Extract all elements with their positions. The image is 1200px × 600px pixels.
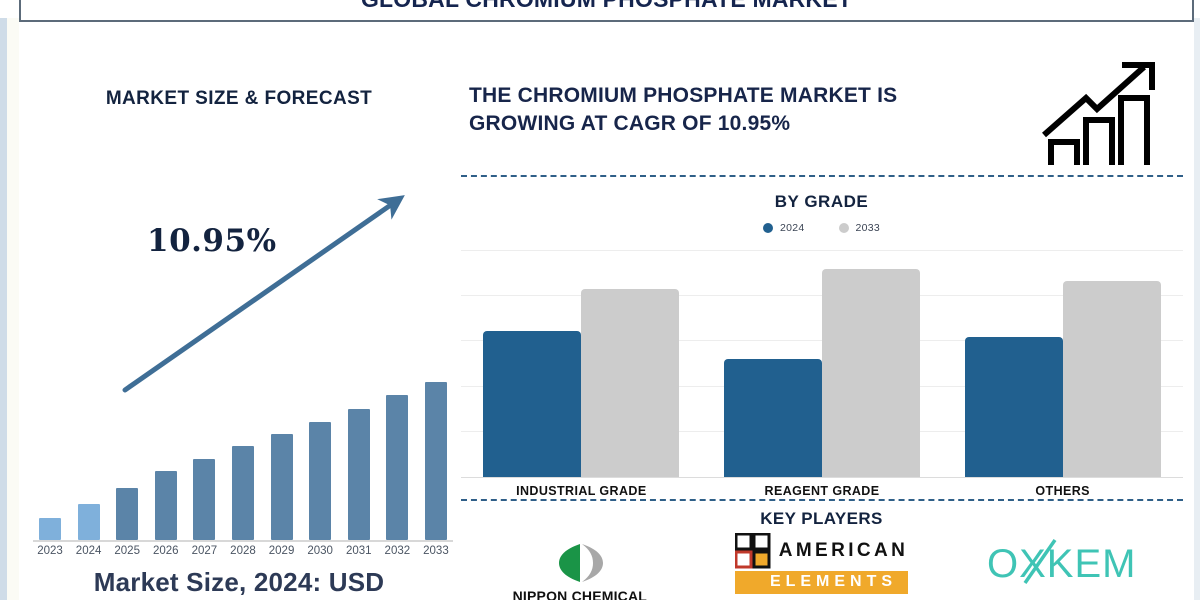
divider-bottom bbox=[461, 499, 1183, 501]
legend-label-2033: 2033 bbox=[856, 222, 881, 234]
x-label-2028: 2028 bbox=[226, 545, 260, 563]
bar-group-others bbox=[942, 250, 1183, 477]
legend-dot-2024 bbox=[763, 223, 773, 233]
x-label-2029: 2029 bbox=[265, 545, 299, 563]
bar-cell bbox=[419, 408, 453, 540]
by-grade-bar-chart bbox=[461, 250, 1183, 478]
bar-2027 bbox=[193, 459, 215, 540]
legend-dot-2033 bbox=[839, 223, 849, 233]
nippon-chemical-logo bbox=[543, 540, 617, 586]
by-grade-legend: 2024 2033 bbox=[459, 222, 1184, 234]
american-elements-word-bottom: ELEMENTS bbox=[770, 573, 897, 590]
bar-cell bbox=[149, 408, 183, 540]
market-size-heading: MARKET SIZE & FORECAST bbox=[19, 88, 459, 110]
bar-cell bbox=[380, 408, 414, 540]
american-elements-grid-icon bbox=[735, 533, 771, 569]
bar-cell bbox=[342, 408, 376, 540]
up-trend-arrow-icon bbox=[19, 140, 459, 430]
oxkem-wordmark-icon: OXKEM bbox=[983, 537, 1143, 589]
x-label-industrial-grade: INDUSTRIAL GRADE bbox=[461, 484, 702, 498]
bar-cell bbox=[33, 408, 67, 540]
x-label-reagent-grade: REAGENT GRADE bbox=[702, 484, 943, 498]
key-player-name-nippon-chemical: NIPPON CHEMICAL bbox=[513, 588, 647, 600]
market-size-bars bbox=[33, 408, 453, 540]
x-label-2031: 2031 bbox=[342, 545, 376, 563]
american-elements-logo: AMERICAN ELEMENTS bbox=[735, 540, 909, 586]
divider-top bbox=[461, 175, 1183, 177]
bar-2028 bbox=[232, 446, 254, 540]
bar-cell bbox=[187, 408, 221, 540]
bar-2025 bbox=[116, 488, 138, 540]
bar-cell bbox=[72, 408, 106, 540]
market-size-axis-line bbox=[33, 540, 453, 542]
bar-reagent-grade-2024 bbox=[724, 359, 822, 477]
market-size-bar-chart bbox=[33, 408, 453, 540]
bar-2031 bbox=[348, 409, 370, 540]
bar-2026 bbox=[155, 471, 177, 540]
bar-2023 bbox=[39, 518, 61, 540]
legend-item-2024: 2024 bbox=[763, 222, 805, 234]
bar-cell bbox=[265, 408, 299, 540]
market-size-value: Market Size, 2024: USD 142.86 Million bbox=[19, 568, 459, 600]
bar-2032 bbox=[386, 395, 408, 540]
by-grade-title: BY GRADE bbox=[459, 192, 1184, 212]
left-edge-inner-strip bbox=[7, 18, 19, 600]
infographic-root: GLOBAL CHROMIUM PHOSPHATE MARKET MARKET … bbox=[0, 0, 1200, 600]
american-elements-word-bar: ELEMENTS bbox=[735, 571, 909, 594]
x-label-2024: 2024 bbox=[72, 545, 106, 563]
x-label-2030: 2030 bbox=[303, 545, 337, 563]
legend-item-2033: 2033 bbox=[839, 222, 881, 234]
by-grade-bar-groups bbox=[461, 250, 1183, 477]
key-players-list: NIPPON CHEMICAL AMERICAN bbox=[459, 540, 1184, 600]
bar-others-2024 bbox=[965, 337, 1063, 477]
bar-cell bbox=[110, 408, 144, 540]
x-label-others: OTHERS bbox=[942, 484, 1183, 498]
x-label-2023: 2023 bbox=[33, 545, 67, 563]
key-players-title: KEY PLAYERS bbox=[459, 509, 1184, 529]
by-grade-x-axis-labels: INDUSTRIAL GRADE REAGENT GRADE OTHERS bbox=[461, 484, 1183, 498]
key-player-nippon-chemical: NIPPON CHEMICAL bbox=[459, 540, 701, 600]
x-label-2027: 2027 bbox=[187, 545, 221, 563]
bar-reagent-grade-2033 bbox=[822, 269, 920, 477]
x-label-2026: 2026 bbox=[149, 545, 183, 563]
bar-cell bbox=[226, 408, 260, 540]
bar-2024 bbox=[78, 504, 100, 540]
page-title: GLOBAL CHROMIUM PHOSPHATE MARKET bbox=[361, 0, 852, 20]
left-edge-strip bbox=[0, 18, 7, 600]
bar-cell bbox=[303, 408, 337, 540]
x-label-2033: 2033 bbox=[419, 545, 453, 563]
american-elements-word-top: AMERICAN bbox=[779, 540, 909, 562]
right-panel: THE CHROMIUM PHOSPHATE MARKET IS GROWING… bbox=[459, 22, 1194, 600]
bar-group-industrial-grade bbox=[461, 250, 702, 477]
oxkem-logo: OXKEM bbox=[983, 540, 1143, 586]
cagr-headline-line2: GROWING AT CAGR OF 10.95% bbox=[469, 110, 1029, 138]
svg-text:OXKEM: OXKEM bbox=[987, 542, 1136, 586]
bar-2029 bbox=[271, 434, 293, 540]
key-player-oxkem: OXKEM bbox=[942, 540, 1184, 586]
cagr-headline-line1: THE CHROMIUM PHOSPHATE MARKET IS bbox=[469, 82, 1029, 110]
by-grade-axis-line bbox=[461, 477, 1183, 478]
page-title-bar: GLOBAL CHROMIUM PHOSPHATE MARKET bbox=[19, 0, 1194, 22]
legend-label-2024: 2024 bbox=[780, 222, 805, 234]
market-size-value-line1: Market Size, 2024: USD bbox=[19, 568, 459, 597]
bar-industrial-grade-2033 bbox=[581, 289, 679, 477]
cagr-headline: THE CHROMIUM PHOSPHATE MARKET IS GROWING… bbox=[469, 82, 1029, 138]
x-label-2032: 2032 bbox=[380, 545, 414, 563]
x-label-2025: 2025 bbox=[110, 545, 144, 563]
key-player-american-elements: AMERICAN ELEMENTS bbox=[701, 540, 943, 586]
market-size-panel: MARKET SIZE & FORECAST 10.95% bbox=[19, 40, 459, 600]
bar-others-2033 bbox=[1063, 281, 1161, 477]
bar-chart-growth-icon bbox=[1034, 57, 1169, 172]
bar-2033 bbox=[425, 382, 447, 540]
bar-industrial-grade-2024 bbox=[483, 331, 581, 477]
bar-group-reagent-grade bbox=[702, 250, 943, 477]
market-size-x-axis-labels: 2023 2024 2025 2026 2027 2028 2029 2030 … bbox=[33, 545, 453, 563]
bar-2030 bbox=[309, 422, 331, 540]
right-edge-strip bbox=[1194, 18, 1200, 600]
